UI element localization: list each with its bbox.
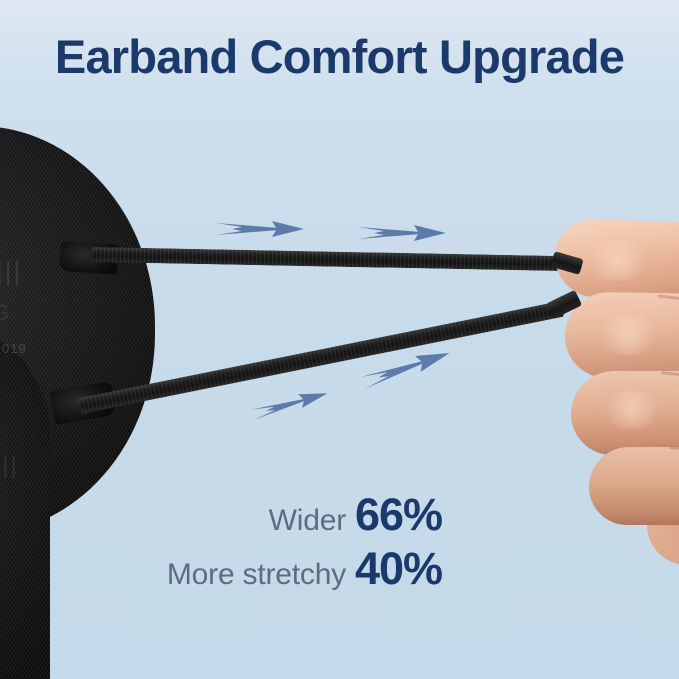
product-feature-image: Earband Comfort Upgrade ||| G 019 ||| — [0, 0, 679, 679]
highlight-middle — [593, 315, 663, 355]
stats-block: Wider 66% More stretchy 40% — [0, 492, 679, 600]
stat-row: Wider 66% — [0, 492, 679, 546]
stat-value-wider: 66% — [355, 492, 442, 537]
highlight-index — [583, 241, 653, 281]
stat-label-wider: Wider — [0, 504, 355, 538]
stat-value-stretchy: 40% — [355, 546, 442, 591]
highlight-ring — [599, 391, 665, 429]
stat-label-stretchy: More stretchy — [0, 558, 355, 592]
stat-row: More stretchy 40% — [0, 546, 679, 600]
stretch-arrow-upper-right — [358, 218, 446, 248]
stretch-arrow-upper-left — [216, 214, 304, 244]
